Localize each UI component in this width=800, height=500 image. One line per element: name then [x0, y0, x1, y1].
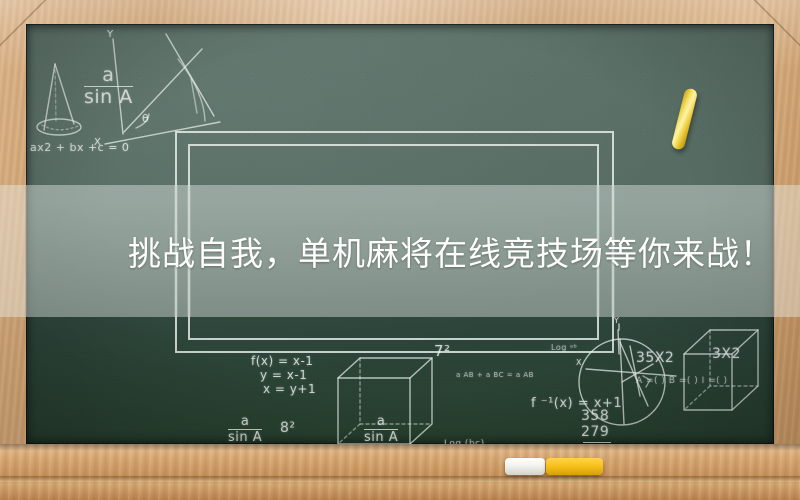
subtraction-subtrahend: 279: [581, 424, 609, 440]
yellow-chalk-icon: [546, 458, 603, 475]
law-of-sines-1-numerator: a: [84, 66, 133, 86]
cone-diagram: [37, 64, 81, 135]
headline-text: 挑战自我，单机麻将在线竞技场等你来战！: [0, 185, 800, 317]
white-chalk-icon: [505, 458, 545, 475]
vector-sum: a AB + a BC = a AB: [456, 371, 534, 379]
ledge-shadow: [0, 444, 800, 451]
quadratic-formula: ax2 + bx +c = 0: [30, 141, 129, 154]
law-of-sines-3: a sin A: [364, 415, 398, 444]
ledge-lip: [0, 476, 800, 482]
function-fx: f(x) = x-1: [251, 354, 313, 368]
law-of-sines-1-denominator: sin A: [84, 86, 133, 108]
matrix-expression: A =( ) B =( ) I =( ): [636, 376, 728, 386]
chalkboard-banner: a sin A ax2 + bx +c = 0 Y X θ f(x) = x-1…: [0, 0, 800, 500]
law-of-sines-3-numerator: a: [364, 415, 398, 429]
function-y: y = x-1: [260, 368, 307, 382]
power-eight: 8²: [280, 420, 296, 436]
axis-label-x-right: X: [576, 358, 582, 367]
chalk-ledge: [0, 444, 800, 500]
law-of-sines-3-denominator: sin A: [364, 429, 398, 444]
axis-label-y-right: Y: [614, 316, 619, 325]
law-of-sines-2: a sin A: [228, 415, 262, 444]
law-of-sines-1: a sin A: [84, 66, 133, 108]
angle-label-theta: θ: [142, 112, 149, 125]
product-3x2-label: 3X2: [712, 346, 741, 362]
law-of-sines-2-numerator: a: [228, 415, 262, 429]
law-of-sines-2-denominator: sin A: [228, 429, 262, 444]
subtraction-minuend: 358: [581, 408, 609, 424]
function-x: x = y+1: [263, 382, 316, 396]
axis-label-x-left: X: [94, 137, 101, 148]
cube-diagram-right: [684, 330, 758, 410]
product-35x2-label: 35X2: [636, 350, 674, 366]
axis-label-y-left: Y: [107, 29, 114, 40]
